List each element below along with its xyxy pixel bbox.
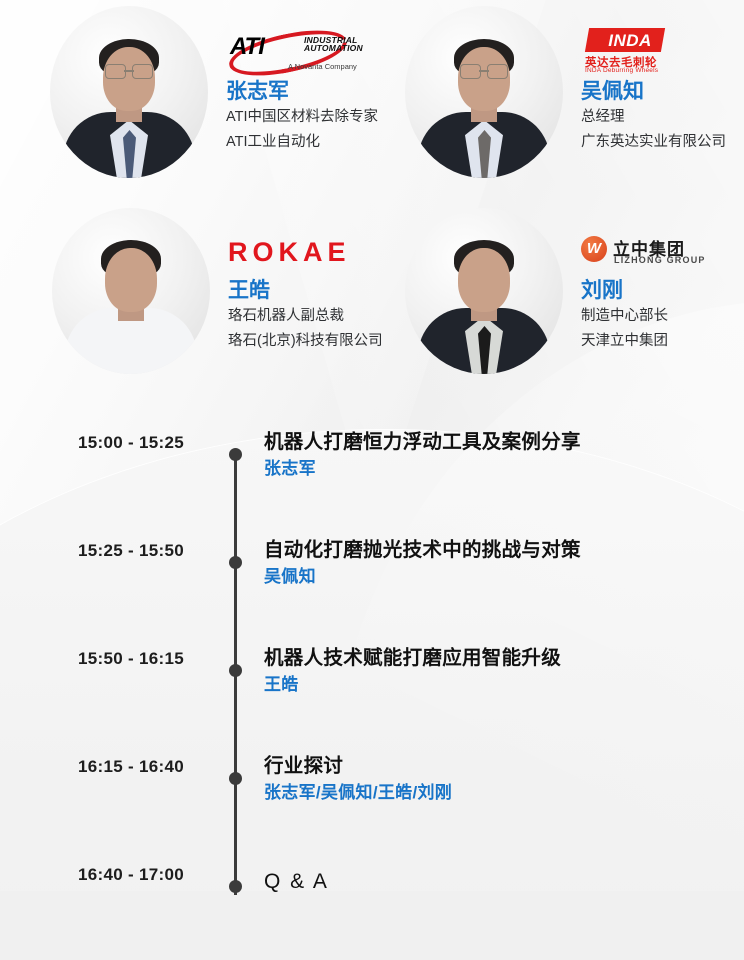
agenda-title: 机器人技术赋能打磨应用智能升级 — [264, 644, 561, 673]
timeline-dot — [229, 556, 242, 569]
agenda-speaker: 张志军 — [264, 457, 581, 481]
agenda-speaker: 吴佩知 — [264, 565, 581, 589]
company-logo-wrap: ROKAE — [228, 228, 383, 276]
speaker-org: 广东英达实业有限公司 — [581, 130, 726, 155]
agenda-time: 16:40 - 17:00 — [78, 865, 218, 885]
speaker-org: 珞石(北京)科技有限公司 — [228, 329, 383, 354]
speaker-name: 张志军 — [226, 79, 378, 105]
agenda-row[interactable]: 16:15 - 16:40 行业探讨 张志军/吴佩知/王皓/刘刚 — [0, 744, 744, 852]
speaker-card-zhang-zhijun[interactable]: ATI INDUSTRIAL AUTOMATION A Novanta Comp… — [50, 6, 378, 178]
agenda-session: 行业探讨 张志军/吴佩知/王皓/刘刚 — [264, 752, 452, 805]
speaker-name: 刘刚 — [581, 278, 731, 304]
agenda-speaker: 王皓 — [264, 673, 561, 697]
speaker-card-wu-peizhi[interactable]: INDA 英达去毛刺轮 INDA Deburring Wheels 吴佩知 总经… — [405, 6, 726, 178]
agenda-title: Q & A — [264, 866, 329, 898]
speaker-card-liu-gang[interactable]: W 立中集团 LIZHONG GROUP 刘刚 制造中心部长 天津立中集团 — [405, 208, 731, 374]
speaker-info: ATI INDUSTRIAL AUTOMATION A Novanta Comp… — [226, 29, 378, 156]
agenda-time: 15:25 - 15:50 — [78, 541, 218, 561]
portrait-head — [458, 47, 510, 111]
agenda-time: 16:15 - 16:40 — [78, 757, 218, 777]
lizhong-logo: W 立中集团 LIZHONG GROUP — [581, 235, 731, 269]
speaker-photo — [52, 208, 210, 374]
glasses-icon — [105, 64, 153, 77]
speaker-grid: ATI INDUSTRIAL AUTOMATION A Novanta Comp… — [0, 0, 744, 395]
timeline-dot — [229, 448, 242, 461]
agenda-title: 行业探讨 — [264, 752, 452, 781]
ati-tagline: A Novanta Company — [288, 62, 357, 71]
speaker-name: 王皓 — [228, 278, 383, 304]
agenda-session: 机器人打磨恒力浮动工具及案例分享 张志军 — [264, 428, 581, 481]
agenda-time: 15:50 - 16:15 — [78, 649, 218, 669]
company-logo-wrap: INDA 英达去毛刺轮 INDA Deburring Wheels — [581, 29, 726, 77]
company-logo-wrap: W 立中集团 LIZHONG GROUP — [581, 228, 731, 276]
timeline-dot — [229, 772, 242, 785]
agenda-row[interactable]: 16:40 - 17:00 Q & A — [0, 852, 744, 960]
speaker-title: 珞石机器人副总裁 — [228, 304, 383, 329]
portrait-head — [103, 47, 155, 111]
company-logo-wrap: ATI INDUSTRIAL AUTOMATION A Novanta Comp… — [226, 29, 378, 77]
rokae-logo: ROKAE — [228, 237, 351, 267]
agenda-title: 自动化打磨抛光技术中的挑战与对策 — [264, 536, 581, 565]
portrait-head — [105, 248, 157, 312]
speaker-photo — [405, 208, 563, 374]
agenda-title: 机器人打磨恒力浮动工具及案例分享 — [264, 428, 581, 457]
speaker-photo — [405, 6, 563, 178]
ati-wordmark: ATI — [230, 35, 264, 59]
timeline-dot — [229, 880, 242, 893]
speaker-info: ROKAE 王皓 珞石机器人副总裁 珞石(北京)科技有限公司 — [228, 228, 383, 355]
speaker-photo — [50, 6, 208, 178]
agenda-row[interactable]: 15:50 - 16:15 机器人技术赋能打磨应用智能升级 王皓 — [0, 636, 744, 744]
speaker-title: ATI中国区材料去除专家 — [226, 105, 378, 130]
speaker-info: INDA 英达去毛刺轮 INDA Deburring Wheels 吴佩知 总经… — [581, 29, 726, 156]
speaker-info: W 立中集团 LIZHONG GROUP 刘刚 制造中心部长 天津立中集团 — [581, 228, 731, 355]
agenda-timeline: 15:00 - 15:25 机器人打磨恒力浮动工具及案例分享 张志军 15:25… — [0, 420, 744, 960]
speaker-org: 天津立中集团 — [581, 329, 731, 354]
agenda-speaker: 张志军/吴佩知/王皓/刘刚 — [264, 781, 452, 805]
ati-subtext: INDUSTRIAL AUTOMATION — [304, 36, 363, 54]
agenda-session: Q & A — [264, 866, 329, 898]
lizhong-english-name: LIZHONG GROUP — [614, 255, 706, 265]
speaker-card-wang-hao[interactable]: ROKAE 王皓 珞石机器人副总裁 珞石(北京)科技有限公司 — [52, 208, 383, 374]
speaker-name: 吴佩知 — [581, 79, 726, 105]
portrait-head — [458, 248, 510, 312]
inda-wordmark: INDA — [593, 30, 667, 52]
speaker-title: 总经理 — [581, 105, 726, 130]
agenda-row[interactable]: 15:00 - 15:25 机器人打磨恒力浮动工具及案例分享 张志军 — [0, 420, 744, 528]
speaker-title: 制造中心部长 — [581, 304, 731, 329]
inda-english-name: INDA Deburring Wheels — [585, 67, 658, 74]
agenda-session: 机器人技术赋能打磨应用智能升级 王皓 — [264, 644, 561, 697]
ati-logo: ATI INDUSTRIAL AUTOMATION A Novanta Comp… — [226, 30, 378, 76]
lizhong-badge-icon: W — [581, 236, 607, 262]
timeline-dot — [229, 664, 242, 677]
agenda-time: 15:00 - 15:25 — [78, 433, 218, 453]
inda-logo: INDA 英达去毛刺轮 INDA Deburring Wheels — [581, 28, 713, 78]
glasses-icon — [460, 64, 508, 77]
speaker-org: ATI工业自动化 — [226, 130, 378, 155]
agenda-row[interactable]: 15:25 - 15:50 自动化打磨抛光技术中的挑战与对策 吴佩知 — [0, 528, 744, 636]
ati-subtext-line2: AUTOMATION — [304, 44, 363, 53]
agenda-session: 自动化打磨抛光技术中的挑战与对策 吴佩知 — [264, 536, 581, 589]
